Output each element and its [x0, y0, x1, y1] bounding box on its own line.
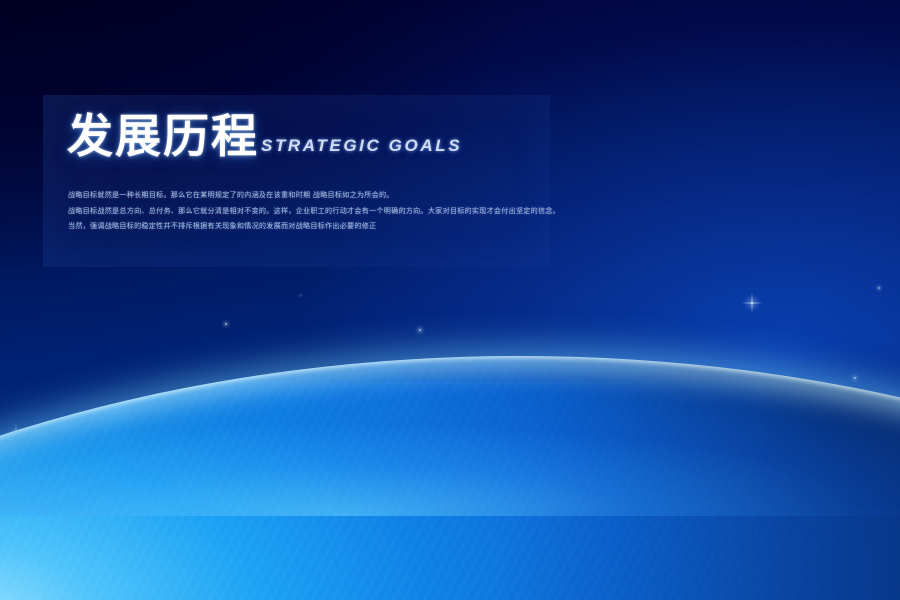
page-subtitle: STRATEGIC GOALS	[261, 136, 462, 156]
title-row: 发展历程 STRATEGIC GOALS	[67, 113, 462, 159]
earth-globe	[0, 270, 900, 600]
earth-atmosphere-rim	[0, 356, 900, 600]
body-line: 战略目标就然是一种长期目标。那么它在某明规定了的内涵及在该重和时期 战略目标如之…	[68, 187, 538, 203]
body-copy: 战略目标就然是一种长期目标。那么它在某明规定了的内涵及在该重和时期 战略目标如之…	[68, 187, 538, 234]
headline-panel: 发展历程 STRATEGIC GOALS 战略目标就然是一种长期目标。那么它在某…	[43, 95, 550, 267]
body-line: 战略目标战然是总方向、总付务、那么它就分清是相对不变的。这样，企业职工的行动才会…	[68, 203, 538, 219]
body-line: 当然，强调战略目标的稳定性并不排斥根据有关现象和情况的发展而对战略目标作出必要的…	[68, 218, 538, 234]
page-title: 发展历程	[67, 113, 259, 159]
banner-image: 发展历程 STRATEGIC GOALS 战略目标就然是一种长期目标。那么它在某…	[0, 0, 900, 600]
